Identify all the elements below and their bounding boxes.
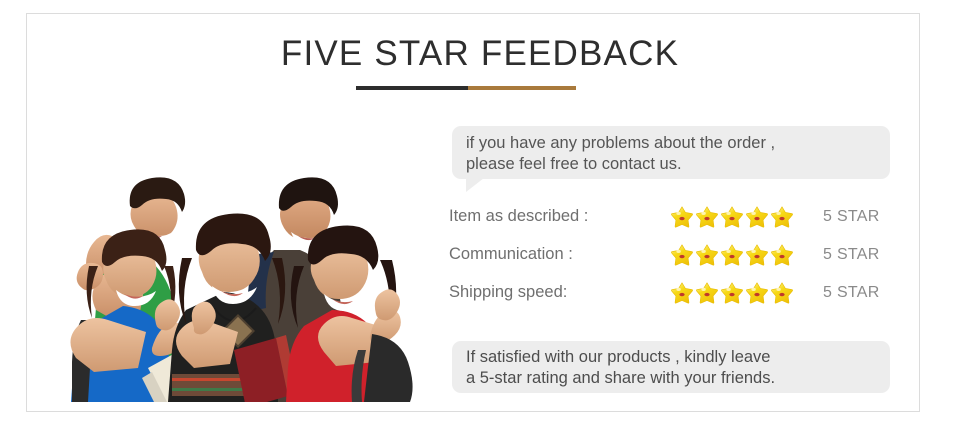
rating-label: Item as described : — [449, 207, 588, 226]
star-icon — [720, 205, 744, 229]
feedback-banner: FIVE STAR FEEDBACK — [0, 0, 960, 426]
rating-label: Shipping speed: — [449, 283, 567, 302]
rating-stars — [670, 281, 794, 305]
title-block: FIVE STAR FEEDBACK — [0, 33, 960, 75]
rating-value: 5 STAR — [823, 246, 880, 264]
star-icon — [720, 281, 744, 305]
satisfaction-note-line-1: If satisfied with our products , kindly … — [466, 347, 876, 368]
ratings-list: Item as described : 5 STAR Communication… — [449, 205, 899, 319]
contact-message-bubble: if you have any problems about the order… — [452, 126, 890, 179]
title-underline-dark-segment — [356, 86, 468, 90]
speech-bubble-tail — [466, 178, 484, 192]
rating-row-shipping-speed: Shipping speed: 5 STAR — [449, 281, 899, 319]
satisfaction-note-box: If satisfied with our products , kindly … — [452, 341, 890, 393]
star-icon — [770, 281, 794, 305]
star-icon — [770, 205, 794, 229]
star-icon — [670, 281, 694, 305]
star-icon — [695, 205, 719, 229]
contact-message-line-1: if you have any problems about the order… — [466, 133, 876, 154]
star-icon — [720, 243, 744, 267]
students-thumbs-up-photo — [36, 110, 418, 402]
star-icon — [695, 281, 719, 305]
rating-stars — [670, 205, 794, 229]
rating-value: 5 STAR — [823, 284, 880, 302]
contact-message-line-2: please feel free to contact us. — [466, 154, 876, 175]
star-icon — [670, 205, 694, 229]
rating-row-communication: Communication : 5 STAR — [449, 243, 899, 281]
rating-stars — [670, 243, 794, 267]
star-icon — [745, 281, 769, 305]
star-icon — [670, 243, 694, 267]
rating-row-item-as-described: Item as described : 5 STAR — [449, 205, 899, 243]
satisfaction-note-line-2: a 5-star rating and share with your frie… — [466, 368, 876, 389]
star-icon — [745, 243, 769, 267]
rating-value: 5 STAR — [823, 208, 880, 226]
title-underline — [356, 86, 576, 90]
rating-label: Communication : — [449, 245, 573, 264]
star-icon — [770, 243, 794, 267]
star-icon — [695, 243, 719, 267]
star-icon — [745, 205, 769, 229]
page-title: FIVE STAR FEEDBACK — [0, 33, 960, 75]
title-underline-gold-segment — [468, 86, 576, 90]
